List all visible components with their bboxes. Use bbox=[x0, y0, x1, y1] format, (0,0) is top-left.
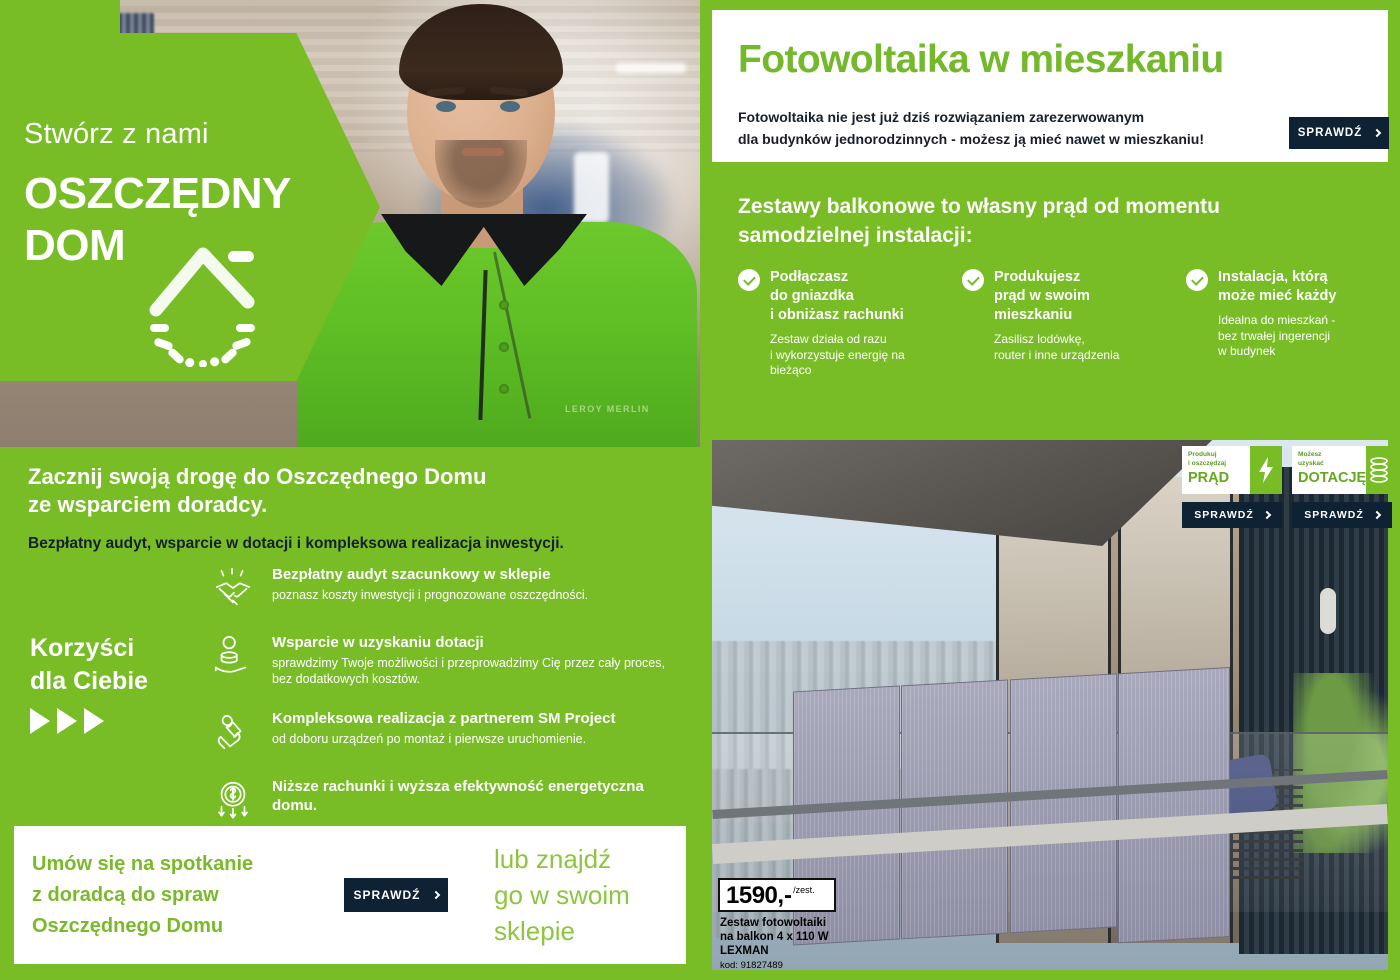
lead-heading-line-2: ze wsparciem doradcy. bbox=[28, 492, 267, 517]
chevron-right-icon bbox=[1373, 511, 1381, 519]
badge-prad-sprawdz-label: SPRAWDŹ bbox=[1194, 509, 1254, 521]
right-features-section: Zestawy balkonowe to własny prąd od mome… bbox=[712, 176, 1388, 428]
right-features-heading: Zestawy balkonowe to własny prąd od mome… bbox=[738, 192, 1338, 250]
shirt-button bbox=[499, 384, 509, 394]
price-value: 1590 bbox=[726, 884, 777, 908]
benefit-text: Kompleksowa realizacja z partnerem SM Pr… bbox=[272, 709, 615, 747]
checklist-title-line-3: mieszkaniu bbox=[994, 307, 1072, 323]
benefit-text: Wsparcie w uzyskaniu dotacji sprawdzimy … bbox=[272, 633, 680, 687]
checklist-text: Podłączasz do gniazdka i obniżasz rachun… bbox=[770, 268, 934, 379]
solar-panel bbox=[1118, 667, 1230, 943]
badge-prad-text: Produkuj i oszczędzaj PRĄD bbox=[1182, 446, 1250, 494]
benefits-side-title: Korzyści dla Ciebie bbox=[30, 632, 210, 698]
handshake-icon bbox=[210, 565, 256, 611]
photo-badges: Produkuj i oszczędzaj PRĄD SPRAWDŹ Możes… bbox=[1182, 446, 1392, 528]
shirt-brand-logo: LEROY MERLIN bbox=[565, 404, 650, 414]
check-circle-icon bbox=[738, 269, 760, 291]
shirt-button bbox=[499, 342, 509, 352]
cta-heading-line-3: Oszczędnego Domu bbox=[32, 911, 314, 942]
lead-heading: Zacznij swoją drogę do Oszczędnego Domu … bbox=[28, 463, 668, 519]
benefit-item: Kompleksowa realizacja z partnerem SM Pr… bbox=[210, 709, 680, 755]
right-header-sprawdz-label: SPRAWDŹ bbox=[1298, 127, 1363, 139]
product-name-line-3: LEXMAN bbox=[720, 945, 769, 957]
checklist-title: Podłączasz do gniazdka i obniżasz rachun… bbox=[770, 268, 934, 325]
badge-dotacje-small-line-1: Możesz bbox=[1298, 451, 1366, 460]
benefits-side-title-line-1: Korzyści bbox=[30, 632, 210, 665]
product-name-line-2: na balkon 4 x 110 W bbox=[720, 931, 829, 943]
lead-copy: Zacznij swoją drogę do Oszczędnego Domu … bbox=[28, 463, 668, 553]
benefits-side-title-line-2: dla Ciebie bbox=[30, 665, 210, 698]
benefit-title: Bezpłatny audyt szacunkowy w sklepie bbox=[272, 565, 588, 584]
right-features-heading-line-2: samodzielnej instalacji: bbox=[738, 224, 973, 247]
left-column: LEROY MERLIN Stwórz z nami OSZCZĘDNY DOM bbox=[0, 0, 700, 980]
checklist-item: Podłączasz do gniazdka i obniżasz rachun… bbox=[738, 268, 934, 379]
badge-prad-sprawdz-button[interactable]: SPRAWDŹ bbox=[1182, 502, 1282, 528]
checklist-title-line-2: może mieć każdy bbox=[1218, 288, 1336, 304]
badge-dotacje-sprawdz-button[interactable]: SPRAWDŹ bbox=[1292, 502, 1392, 528]
cta-secondary-text: lub znajdź go w swoim sklepie bbox=[494, 841, 630, 949]
benefit-desc: poznasz koszty inwestycji i prognozowane… bbox=[272, 587, 588, 603]
shirt-button bbox=[499, 300, 509, 310]
checklist-title-line-3: i obniżasz rachunki bbox=[770, 307, 904, 323]
badge-prad: Produkuj i oszczędzaj PRĄD SPRAWDŹ bbox=[1182, 446, 1282, 528]
checklist-desc-line-2: i wykorzystuje energię na bieżąco bbox=[770, 348, 905, 378]
chevron-right-icon bbox=[1263, 511, 1271, 519]
lightning-bolt-icon bbox=[1250, 446, 1282, 494]
chevron-right-icon bbox=[431, 891, 439, 899]
checklist-title: Instalacja, którą może mieć każdy bbox=[1218, 268, 1336, 306]
promo-page: LEROY MERLIN Stwórz z nami OSZCZĘDNY DOM bbox=[0, 0, 1400, 980]
checklist-desc-line-1: Zasilisz lodówkę, bbox=[994, 332, 1085, 346]
advisor-hair bbox=[399, 4, 563, 100]
cta-heading-line-2: z doradcą do spraw bbox=[32, 880, 314, 911]
appointment-cta-card: Umów się na spotkanie z doradcą do spraw… bbox=[14, 826, 686, 964]
coins-in-hand-icon bbox=[210, 633, 256, 679]
cta-sprawdz-button[interactable]: SPRAWDŹ bbox=[344, 878, 448, 912]
hero-photo: LEROY MERLIN Stwórz z nami OSZCZĘDNY DOM bbox=[0, 0, 700, 447]
checklist-desc-line-2: router i inne urządzenia bbox=[994, 348, 1119, 362]
badge-prad-small-line-1: Produkuj bbox=[1188, 451, 1250, 460]
price-unit: /zest. bbox=[793, 885, 815, 895]
badge-dotacje-sprawdz-label: SPRAWDŹ bbox=[1304, 509, 1364, 521]
hero-title-line-1: OSZCZĘDNY bbox=[24, 168, 291, 220]
price-comma: ,- bbox=[777, 884, 792, 908]
right-features-heading-line-1: Zestawy balkonowe to własny prąd od mome… bbox=[738, 195, 1220, 218]
hero-kicker: Stwórz z nami bbox=[24, 118, 209, 151]
checklist-text: Instalacja, którą może mieć każdy Idealn… bbox=[1218, 268, 1336, 360]
checklist: Podłączasz do gniazdka i obniżasz rachun… bbox=[738, 268, 1388, 379]
coins-stack-icon bbox=[1366, 446, 1392, 494]
lead-subheading: Bezpłatny audyt, wsparcie w dotacji i ko… bbox=[28, 535, 668, 553]
benefit-desc: od doboru urządzeń po montaż i pierwsze … bbox=[272, 731, 615, 747]
benefit-text: Bezpłatny audyt szacunkowy w sklepie poz… bbox=[272, 565, 588, 603]
benefit-title: Niższe rachunki i wyższa efektywność ene… bbox=[272, 777, 680, 815]
checklist-desc-line-2: bez trwałej ingerencji bbox=[1218, 329, 1330, 343]
advisor-eye bbox=[500, 101, 520, 112]
right-subtitle: Fotowoltaika nie jest już dziś rozwiązan… bbox=[738, 106, 1298, 150]
badge-dotacje-big: DOTACJĘ bbox=[1298, 470, 1366, 486]
coin-down-arrows-icon bbox=[210, 777, 256, 823]
hero-green-tail bbox=[0, 0, 120, 34]
benefit-title: Wsparcie w uzyskaniu dotacji bbox=[272, 633, 680, 652]
badge-prad-tile: Produkuj i oszczędzaj PRĄD bbox=[1182, 446, 1282, 494]
product-name: Zestaw fotowoltaiki na balkon 4 x 110 W … bbox=[720, 916, 910, 958]
checklist-title-line-2: prąd w swoim bbox=[994, 288, 1090, 304]
cta-secondary-line-1: lub znajdź bbox=[494, 841, 630, 877]
checklist-title-line-1: Podłączasz bbox=[770, 269, 848, 285]
benefit-text: Niższe rachunki i wyższa efektywność ene… bbox=[272, 777, 680, 818]
checklist-title-line-1: Produkujesz bbox=[994, 269, 1080, 285]
badge-prad-big: PRĄD bbox=[1188, 470, 1250, 486]
badge-dotacje-text: Możesz uzyskać DOTACJĘ bbox=[1292, 446, 1366, 494]
solar-panel bbox=[902, 679, 1009, 939]
right-subtitle-line-1: Fotowoltaika nie jest już dziś rozwiązan… bbox=[738, 109, 1144, 125]
benefits-list: Bezpłatny audyt szacunkowy w sklepie poz… bbox=[210, 565, 680, 823]
benefit-item: Niższe rachunki i wyższa efektywność ene… bbox=[210, 777, 680, 823]
right-header-sprawdz-button[interactable]: SPRAWDŹ bbox=[1289, 117, 1389, 149]
benefit-item: Bezpłatny audyt szacunkowy w sklepie poz… bbox=[210, 565, 680, 611]
checklist-title: Produkujesz prąd w swoim mieszkaniu bbox=[994, 268, 1119, 325]
cta-heading: Umów się na spotkanie z doradcą do spraw… bbox=[32, 849, 314, 942]
right-header-card: Fotowoltaika w mieszkaniu Fotowoltaika n… bbox=[712, 10, 1388, 162]
lead-heading-line-1: Zacznij swoją drogę do Oszczędnego Domu bbox=[28, 464, 486, 489]
house-sun-logo bbox=[148, 232, 258, 367]
cta-heading-line-1: Umów się na spotkanie bbox=[32, 849, 314, 880]
triple-arrow-icon bbox=[30, 708, 210, 734]
checklist-desc-line-1: Idealna do mieszkań - bbox=[1218, 313, 1335, 327]
benefit-item: Wsparcie w uzyskaniu dotacji sprawdzimy … bbox=[210, 633, 680, 687]
cta-text-block: Umów się na spotkanie z doradcą do spraw… bbox=[14, 849, 314, 942]
product-description: Zestaw fotowoltaiki na balkon 4 x 110 W … bbox=[720, 916, 910, 972]
price-badge: 1590 ,- /zest. bbox=[718, 878, 836, 912]
chevron-right-icon bbox=[1373, 129, 1381, 137]
benefit-desc: sprawdzimy Twoje możliwości i przeprowad… bbox=[272, 655, 680, 687]
checklist-title-line-1: Instalacja, którą bbox=[1218, 269, 1328, 285]
right-page-title: Fotowoltaika w mieszkaniu bbox=[738, 38, 1224, 82]
advisor-mouth bbox=[462, 148, 504, 156]
checklist-desc: Zasilisz lodówkę, router i inne urządzen… bbox=[994, 332, 1119, 363]
cta-sprawdz-label: SPRAWDŹ bbox=[354, 888, 421, 902]
wrench-glove-icon bbox=[210, 709, 256, 755]
product-name-line-1: Zestaw fotowoltaiki bbox=[720, 917, 826, 929]
cta-secondary-line-2: go w swoim bbox=[494, 877, 630, 913]
checklist-desc: Idealna do mieszkań - bez trwałej ingere… bbox=[1218, 313, 1336, 360]
checklist-text: Produkujesz prąd w swoim mieszkaniu Zasi… bbox=[994, 268, 1119, 363]
advisor-eye bbox=[436, 101, 456, 112]
badge-dotacje-tile: Możesz uzyskać DOTACJĘ bbox=[1292, 446, 1392, 494]
checklist-item: Produkujesz prąd w swoim mieszkaniu Zasi… bbox=[962, 268, 1158, 379]
checklist-desc-line-1: Zestaw działa od razu bbox=[770, 332, 887, 346]
cta-secondary-line-3: sklepie bbox=[494, 913, 630, 949]
checklist-title-line-2: do gniazdka bbox=[770, 288, 854, 304]
check-circle-icon bbox=[1186, 269, 1208, 291]
solar-panel bbox=[1010, 673, 1117, 933]
badge-prad-small-line-2: i oszczędzaj bbox=[1188, 460, 1250, 469]
benefits-side-label: Korzyści dla Ciebie bbox=[30, 632, 210, 734]
product-code: kod: 91827489 bbox=[720, 960, 910, 972]
checklist-item: Instalacja, którą może mieć każdy Idealn… bbox=[1186, 268, 1382, 379]
badge-dotacje: Możesz uzyskać DOTACJĘ SPRAWDŹ bbox=[1292, 446, 1392, 528]
checklist-desc: Zestaw działa od razu i wykorzystuje ene… bbox=[770, 332, 934, 379]
wall-lamp bbox=[1320, 588, 1336, 634]
right-subtitle-line-2: dla budynków jednorodzinnych - możesz ją… bbox=[738, 131, 1204, 147]
badge-dotacje-small-line-2: uzyskać bbox=[1298, 460, 1366, 469]
check-circle-icon bbox=[962, 269, 984, 291]
checklist-desc-line-3: w budynek bbox=[1218, 344, 1275, 358]
benefit-title: Kompleksowa realizacja z partnerem SM Pr… bbox=[272, 709, 615, 728]
